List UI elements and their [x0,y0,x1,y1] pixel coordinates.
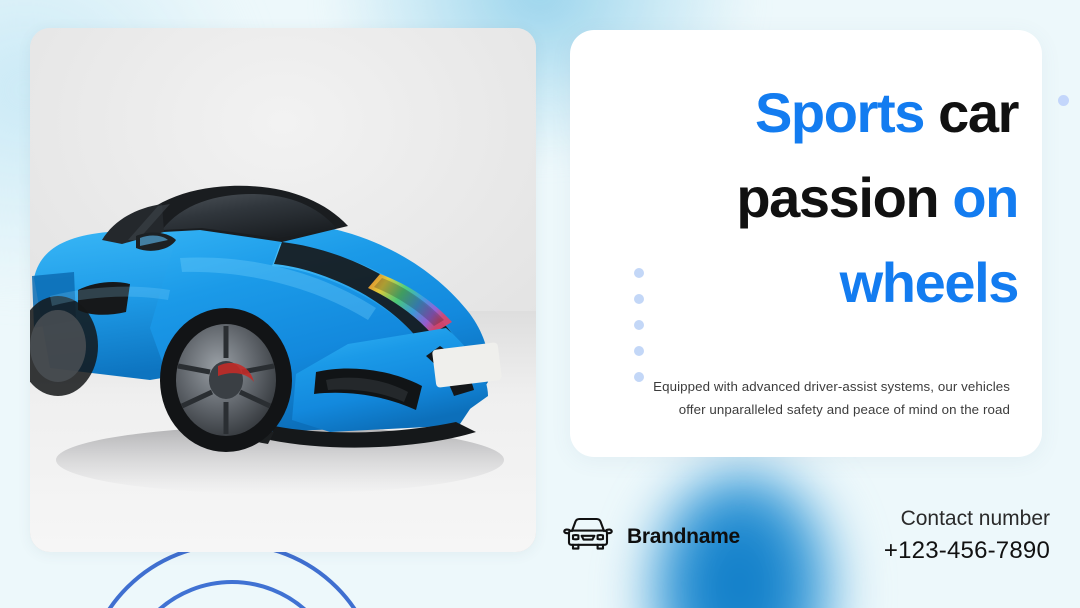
headline-word-on: on [952,166,1018,229]
headline-word-passion: passion [736,166,938,229]
car-photo-card [30,28,536,552]
car-front-icon [562,514,614,559]
brand-name: Brandname [627,525,740,549]
contact-number[interactable]: +123-456-7890 [884,534,1050,567]
body-paragraph: Equipped with advanced driver-assist sys… [640,376,1010,422]
headline-word-sports: Sports [755,81,924,144]
contact-block: Contact number +123-456-7890 [884,505,1050,567]
dot-icon [634,268,644,278]
dot-icon [634,346,644,356]
headline-line-3: wheels [594,240,1018,325]
dot-icon [634,320,644,330]
accent-dot-icon [1058,95,1069,106]
poster-canvas: Sports car passion on wheels Equipped wi… [0,0,1080,608]
headline-word-car: car [938,81,1018,144]
headline-line-2: passion on [594,155,1018,240]
headline: Sports car passion on wheels [594,70,1018,325]
contact-label: Contact number [884,505,1050,534]
brand-logo[interactable]: Brandname [562,514,740,559]
dot-icon [634,294,644,304]
bullet-dots-decoration [634,268,644,382]
headline-word-wheels: wheels [840,251,1018,314]
sports-car-image [30,28,536,552]
headline-card: Sports car passion on wheels Equipped wi… [570,30,1042,457]
headline-line-1: Sports car [594,70,1018,155]
